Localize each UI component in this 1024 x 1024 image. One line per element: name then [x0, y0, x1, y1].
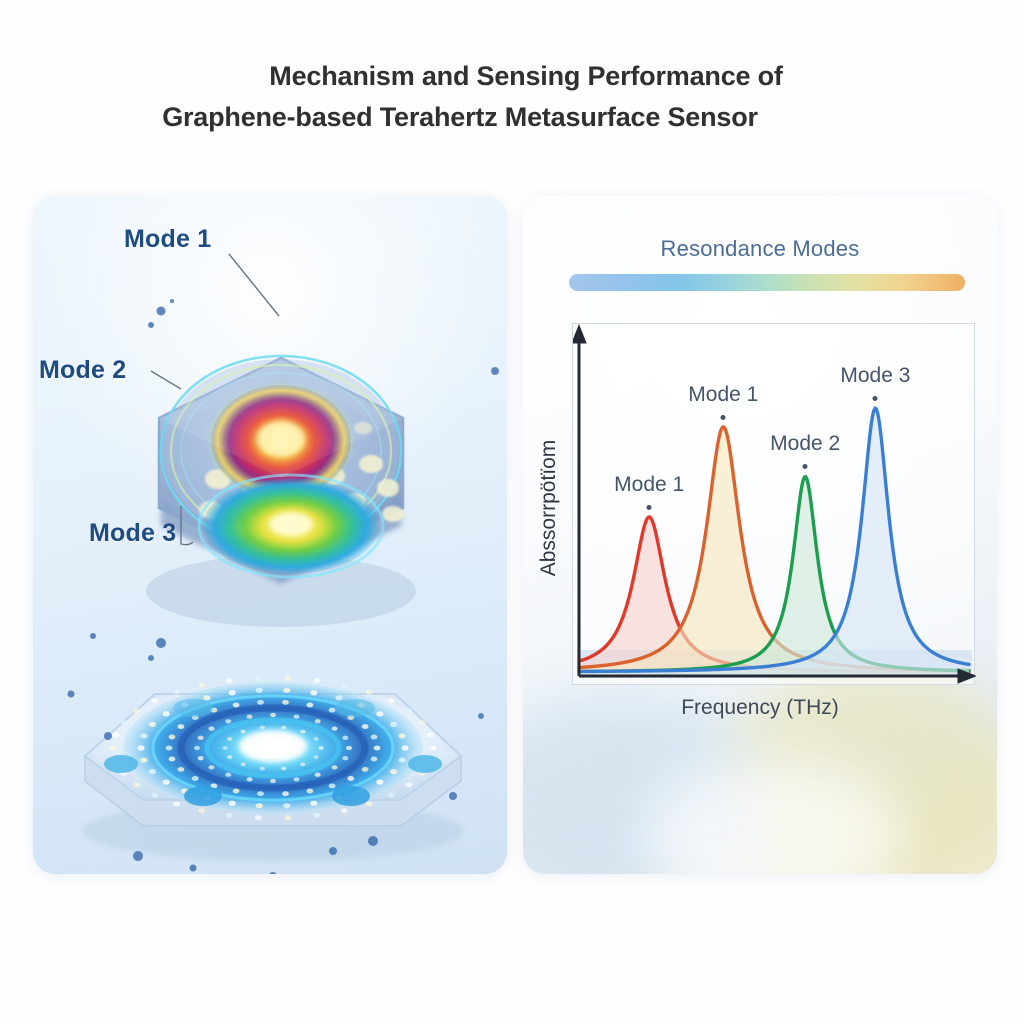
peak-marker-dot [803, 464, 808, 469]
y-axis-title: Abssorrpötïom [537, 398, 561, 618]
leader-line-mode-1 [229, 254, 279, 316]
peak-label-3: Mode 2 [770, 432, 840, 456]
title-line-2: Graphene-based Terahertz Metasurface Sen… [0, 97, 1024, 138]
resonance-colorbar [569, 274, 965, 291]
peak-marker-dot [721, 415, 726, 420]
x-axis-title: Frequency (THz) [523, 696, 997, 720]
peak-marker-dot [647, 505, 652, 510]
peak-label-2: Mode 1 [688, 383, 758, 407]
peak-label-1: Mode 1 [614, 473, 684, 497]
figure-canvas: Mechanism and Sensing Performance of Gra… [0, 0, 1024, 1024]
annotation-mode-3: Mode 3 [89, 519, 176, 548]
figure-title: Mechanism and Sensing Performance of Gra… [0, 56, 1024, 138]
octagonal-metasurface-device [83, 676, 463, 861]
peak-label-4: Mode 3 [840, 364, 910, 388]
peak-marker-dot [873, 396, 878, 401]
spectrum-curves [573, 324, 976, 686]
legend-title: Resondance Modes [523, 236, 997, 262]
leader-line-mode-2 [151, 371, 181, 389]
title-line-1: Mechanism and Sensing Performance of [0, 56, 1024, 97]
watercolor-blob-white [643, 756, 903, 874]
metasurface-illustration-panel: Mode 1 Mode 2 Mode 3 [33, 196, 507, 874]
watercolor-blob-blue [523, 696, 763, 874]
absorption-spectrum-panel: Resondance Modes Abssorrpötïom Frequency… [523, 196, 997, 874]
spectrum-plot-frame: Mode 1Mode 1Mode 2Mode 3 [572, 323, 975, 685]
annotation-mode-2: Mode 2 [39, 356, 126, 385]
annotation-mode-1: Mode 1 [124, 225, 211, 254]
hexagonal-metasurface-device [146, 356, 416, 627]
hotspot-mode-2 [199, 475, 383, 577]
